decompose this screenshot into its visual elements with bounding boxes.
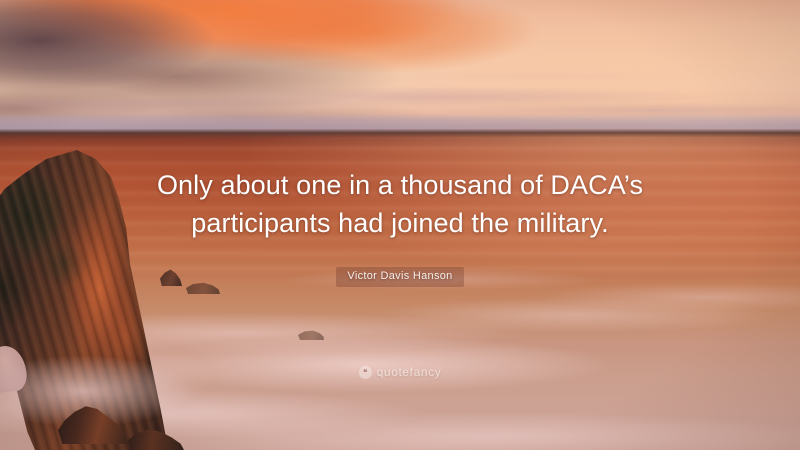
quote-card: Only about one in a thousand of DACA’s p… [0,0,800,450]
author-name: Victor Davis Hanson [336,267,463,287]
author-attribution: Victor Davis Hanson [336,266,463,287]
watermark: ❝ quotefancy [0,366,800,379]
quote-text: Only about one in a thousand of DACA’s p… [130,166,670,242]
watermark-brand-text: quotefancy [377,366,442,379]
quote-content: Only about one in a thousand of DACA’s p… [0,0,800,450]
quotefancy-logo-badge-icon: ❝ [359,366,372,379]
